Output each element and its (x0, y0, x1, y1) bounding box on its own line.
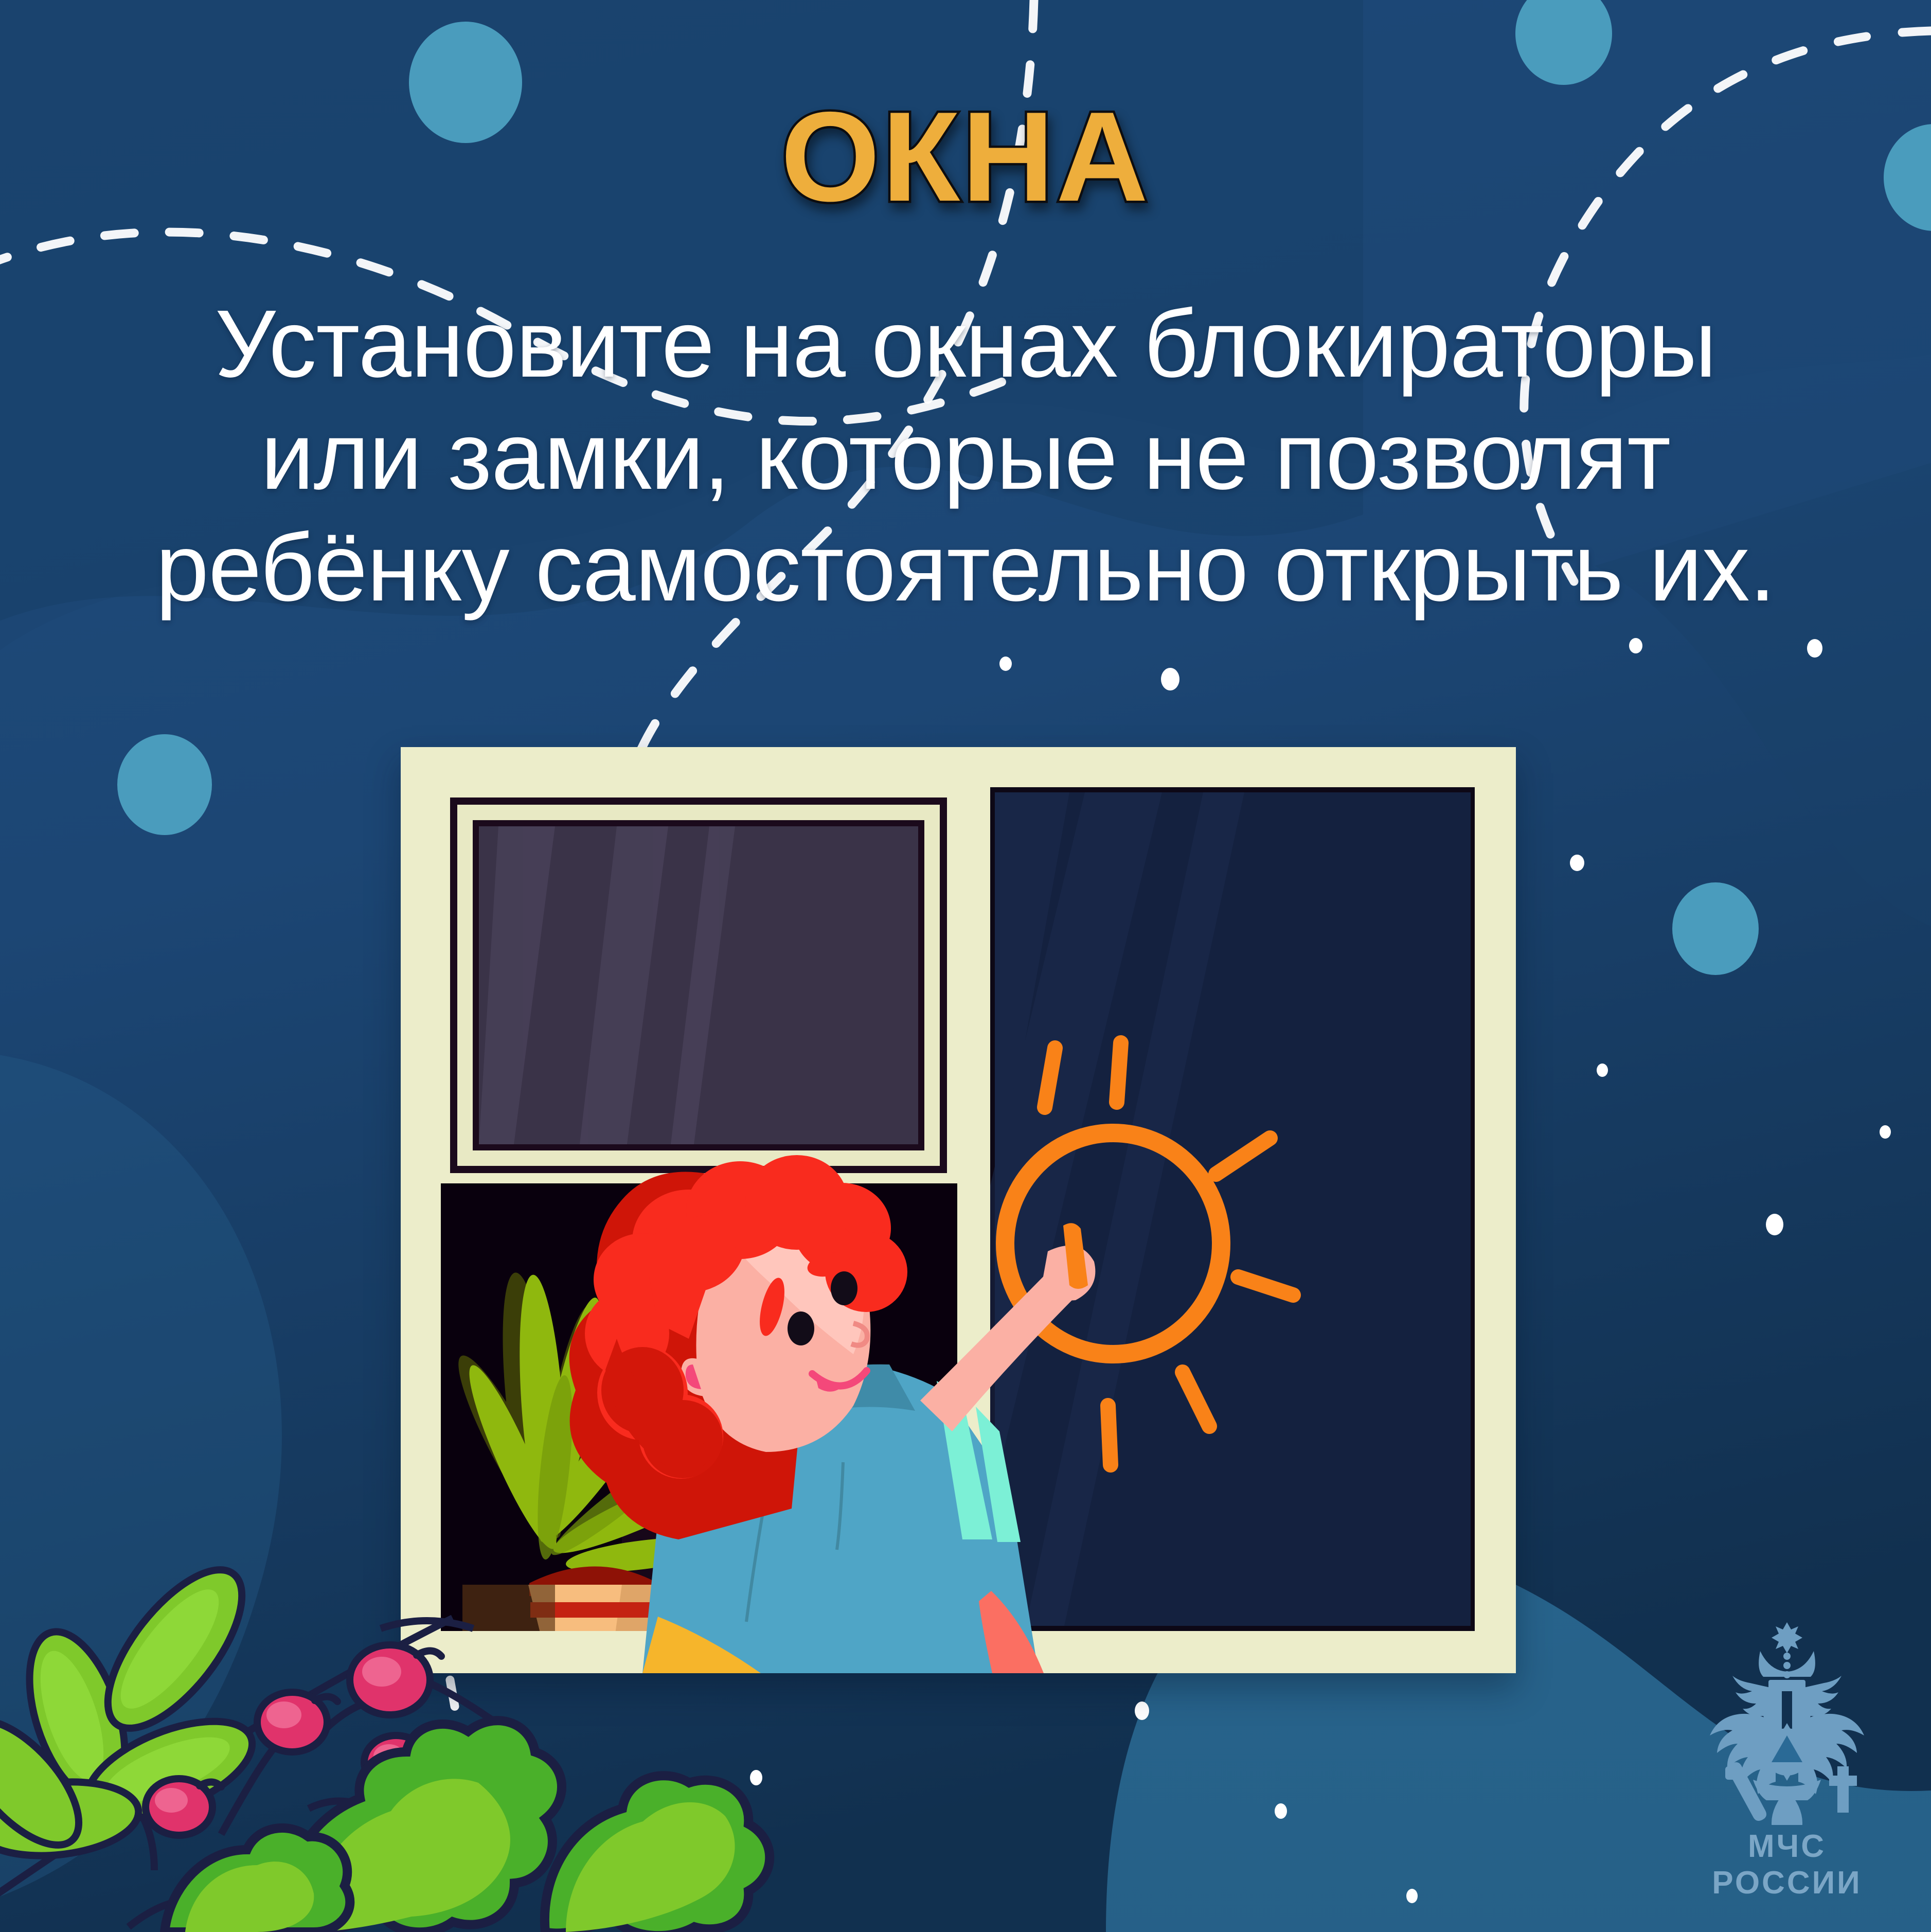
foliage-svg (0, 1289, 874, 1932)
oak-leaf (545, 1776, 770, 1932)
poster-canvas: ОКНА Установите на окнах блокираторы или… (0, 0, 1931, 1932)
page-title-container: ОКНА (0, 93, 1931, 220)
leaf (84, 1549, 266, 1749)
page-title: ОКНА (781, 93, 1150, 220)
berry (257, 1692, 337, 1752)
emercom-logo: МЧС РОССИИ (1676, 1619, 1898, 1901)
oak-leaf-group (165, 1721, 770, 1932)
oak-leaf (165, 1828, 350, 1932)
decor-circle (117, 734, 212, 835)
eagle-emblem-shape (1710, 1622, 1864, 1825)
decor-circle (1672, 882, 1759, 975)
logo-text: МЧС РОССИИ (1676, 1828, 1898, 1901)
subtitle-line-3: ребёнку самостоятельно открыть их. (0, 512, 1931, 624)
leaf-group-rounded (0, 1549, 266, 1864)
frame-right (1475, 747, 1516, 1673)
decorative-foliage (0, 1289, 874, 1932)
poster-subtitle: Установите на окнах блокираторы или замк… (0, 288, 1931, 624)
emercom-emblem-icon (1700, 1619, 1874, 1825)
subtitle-line-2: или замки, которые не позволят (0, 400, 1931, 512)
berry (350, 1645, 441, 1715)
subtitle-line-1: Установите на окнах блокираторы (0, 288, 1931, 400)
